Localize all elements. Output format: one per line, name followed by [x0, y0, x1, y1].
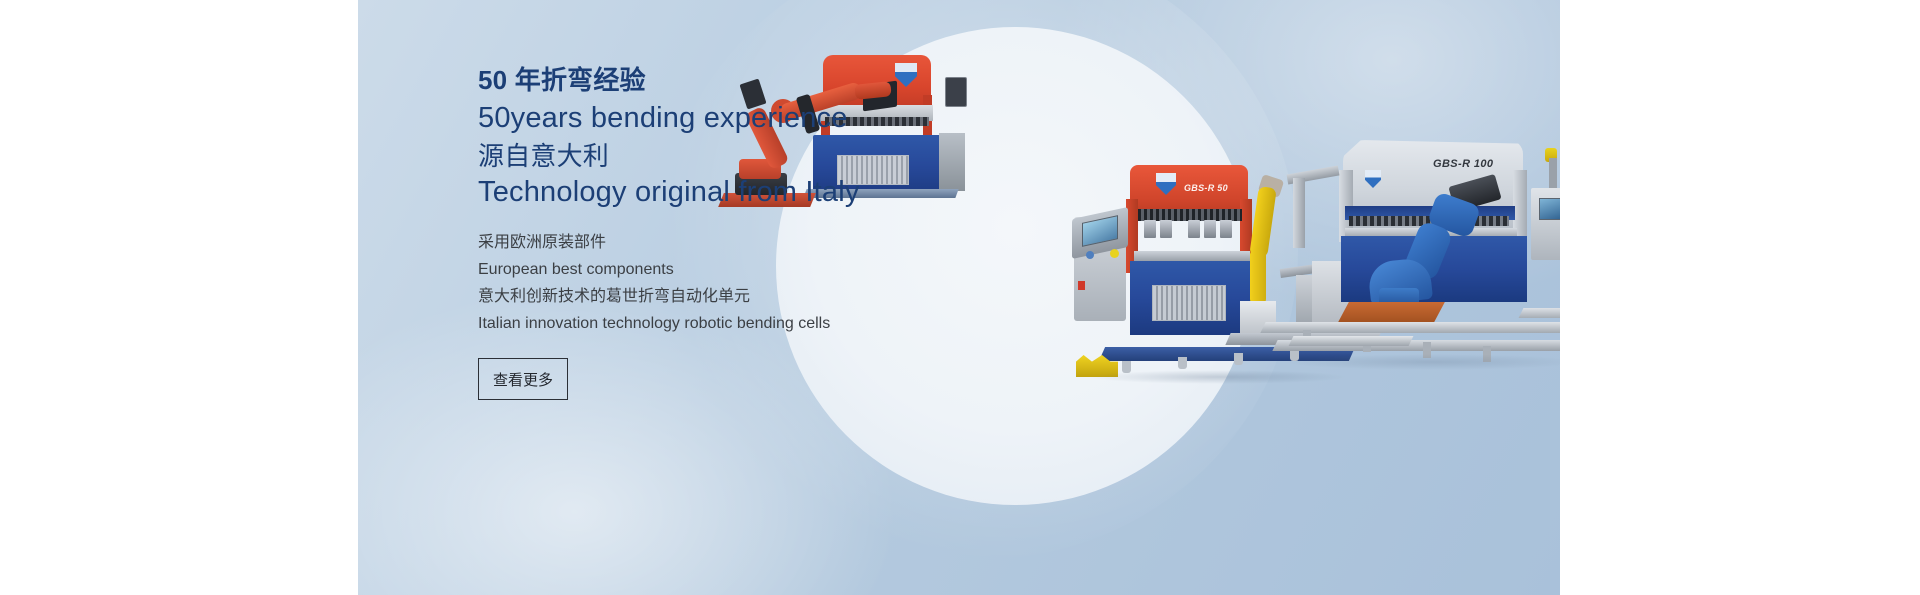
- side-support-table: [1519, 308, 1560, 318]
- view-more-button[interactable]: 查看更多: [478, 358, 568, 400]
- gbs-r-100-cell: GBS-R 100: [1283, 140, 1560, 380]
- punch: [1220, 220, 1232, 238]
- subtext-line-1: 采用欧洲原装部件: [478, 229, 606, 256]
- robot-floor-plate: [1337, 302, 1445, 324]
- punch: [1144, 220, 1156, 238]
- machine-foot: [1234, 353, 1243, 365]
- console-button-red: [1078, 281, 1085, 290]
- robot-lower-arm: [1250, 249, 1266, 305]
- hero-banner: GBS-R 50: [358, 0, 1560, 595]
- console-emergency-button: [1110, 249, 1119, 258]
- headline-line-2: 50years bending experience: [478, 100, 848, 137]
- subtext-line-3: 意大利创新技术的葛世折弯自动化单元: [478, 283, 750, 310]
- machine-model-label: GBS-R 50: [1184, 183, 1228, 193]
- machine-model-label: GBS-R 100: [1433, 158, 1493, 170]
- subtext-line-4: Italian innovation technology robotic be…: [478, 310, 830, 337]
- punch: [1188, 220, 1200, 238]
- headline-line-4: Technology original from Italy: [478, 174, 860, 211]
- press-vent-grille: [1152, 285, 1226, 321]
- cabinet-screen: [1539, 198, 1560, 220]
- sheet-metal-part: [1289, 336, 1414, 346]
- banner-stage: GBS-R 50: [0, 0, 1920, 595]
- machine-foot: [1178, 357, 1187, 369]
- punch: [1160, 220, 1172, 238]
- pendant-control-panel: [945, 77, 967, 107]
- lamp-post: [1549, 158, 1557, 190]
- press-side-cabinet: [939, 133, 965, 191]
- floor-shadow: [1283, 354, 1560, 370]
- support-column: [1293, 178, 1305, 248]
- console-button-blue: [1086, 251, 1094, 259]
- subtext-line-2: European best components: [478, 256, 674, 283]
- headline-line-1: 50 年折弯经验: [478, 62, 646, 99]
- punch: [1204, 220, 1216, 238]
- robot-upper-arm: [1249, 186, 1277, 258]
- headline-line-3: 源自意大利: [478, 138, 609, 175]
- press-punch-row: [1144, 220, 1236, 238]
